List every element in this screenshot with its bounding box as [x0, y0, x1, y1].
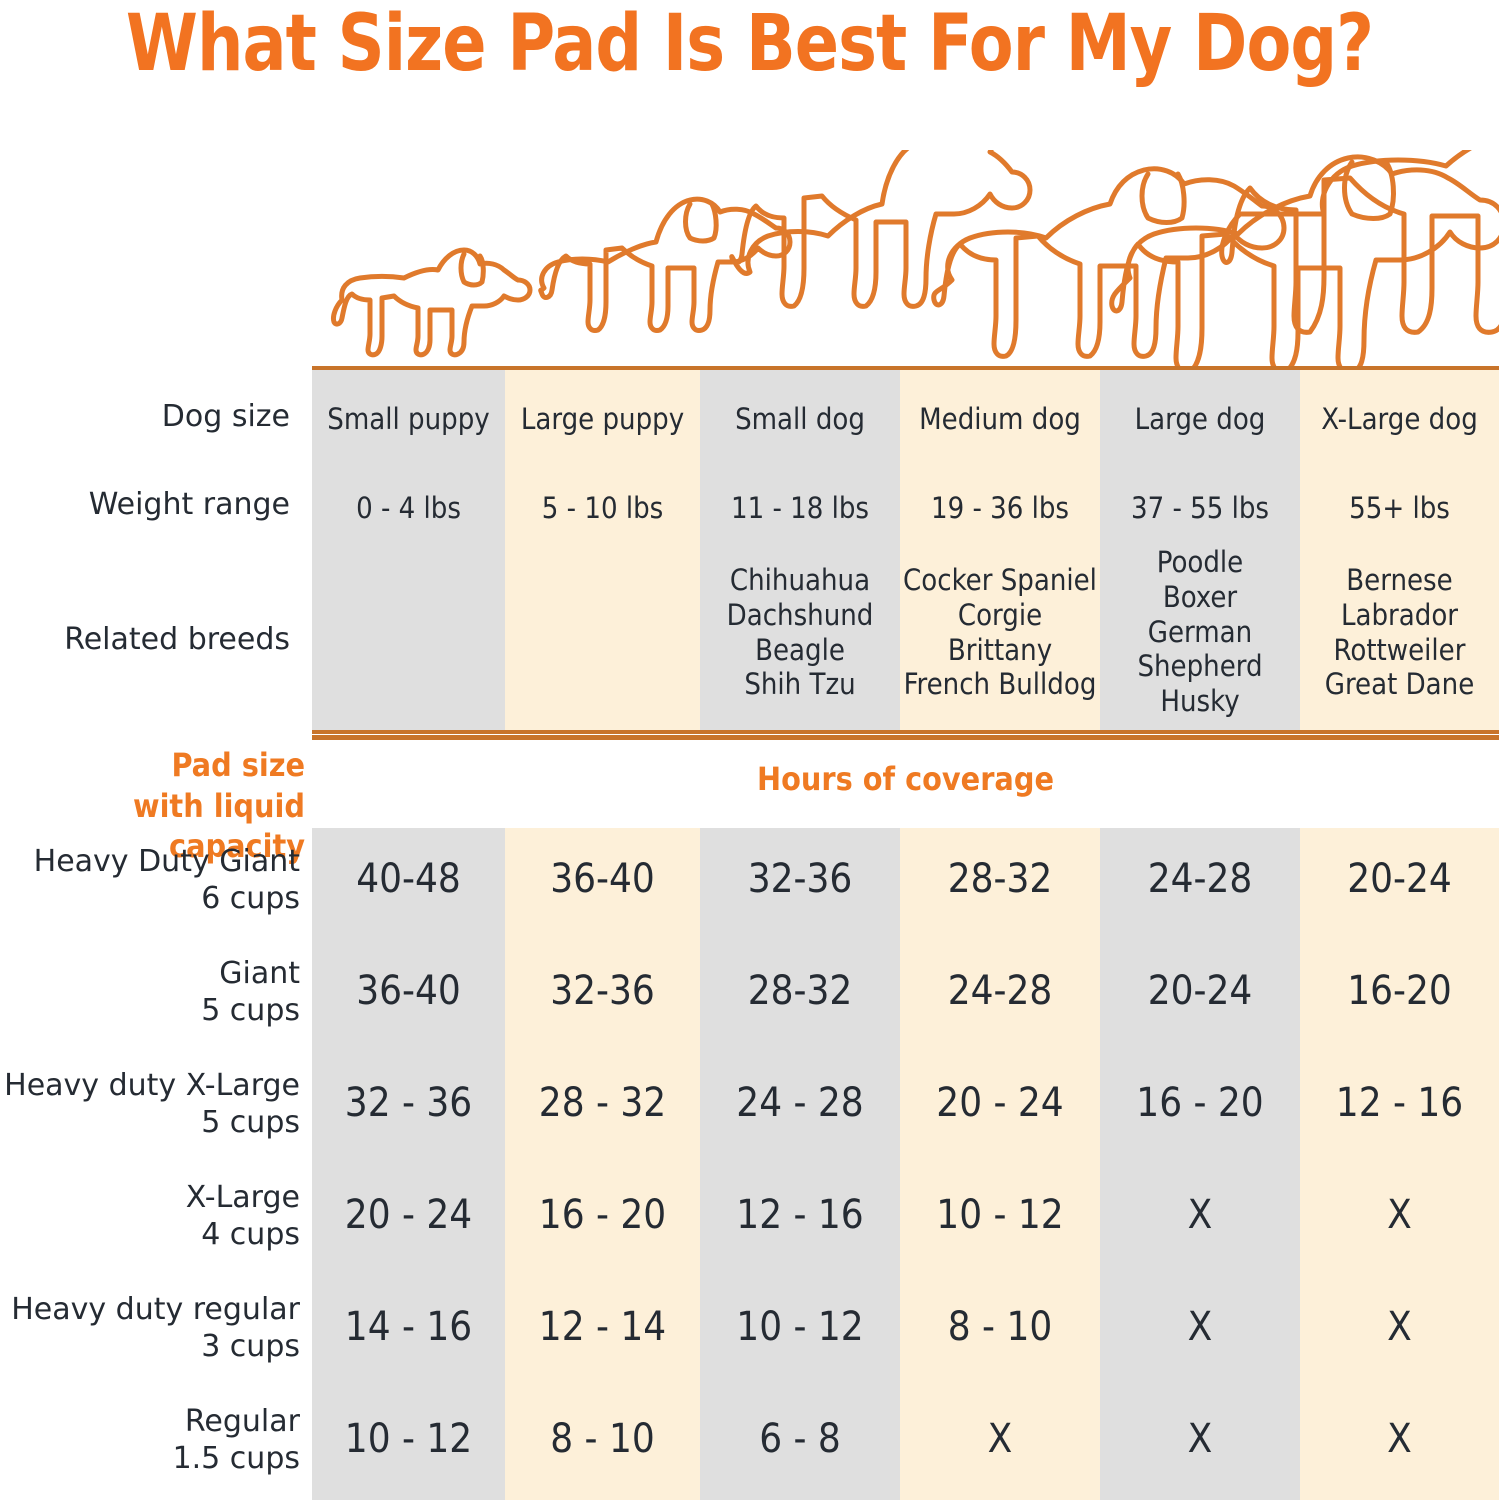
row-6-capacity: 1.5 cups	[173, 1441, 300, 1476]
cell-r2c4: 24-28	[900, 968, 1100, 1014]
cell-r6c1: 10 - 12	[312, 1416, 505, 1462]
cell-r4c1: 20 - 24	[312, 1192, 505, 1238]
cell-weight-2: 5 - 10 lbs	[505, 491, 700, 525]
cell-r5c6: X	[1300, 1304, 1499, 1350]
cell-r2c6: 16-20	[1300, 968, 1499, 1014]
cell-r2c1: 36-40	[312, 968, 505, 1014]
cell-r5c3: 10 - 12	[700, 1304, 900, 1350]
row-2-capacity: 5 cups	[201, 993, 300, 1028]
cell-r3c2: 28 - 32	[505, 1080, 700, 1126]
row-label-5: Heavy duty regular 3 cups	[0, 1292, 300, 1365]
cell-weight-6: 55+ lbs	[1300, 491, 1499, 525]
grid-col-bg-6	[1300, 828, 1499, 1500]
cell-r3c1: 32 - 36	[312, 1080, 505, 1126]
cell-r4c6: X	[1300, 1192, 1499, 1238]
cell-r1c2: 36-40	[505, 856, 700, 902]
cell-r6c6: X	[1300, 1416, 1499, 1462]
grid-col-bg-5	[1100, 828, 1300, 1500]
small-puppy-silhouette	[333, 250, 530, 355]
cell-r6c5: X	[1100, 1416, 1300, 1462]
cell-r2c2: 32-36	[505, 968, 700, 1014]
grid-col-bg-3	[700, 828, 900, 1500]
mid-divider-rule	[312, 735, 1499, 740]
bottom-divider-rule	[312, 730, 1499, 734]
cell-r4c2: 16 - 20	[505, 1192, 700, 1238]
grid-col-bg-4	[900, 828, 1100, 1500]
row-5-capacity: 3 cups	[201, 1329, 300, 1364]
top-divider-rule	[312, 366, 1499, 370]
cell-r5c4: 8 - 10	[900, 1304, 1100, 1350]
row-2-name: Giant	[219, 956, 300, 991]
cell-r4c4: 10 - 12	[900, 1192, 1100, 1238]
cell-dog-size-5: Large dog	[1100, 402, 1300, 436]
dog-silhouette-strip	[312, 150, 1499, 368]
row-6-name: Regular	[185, 1404, 300, 1439]
cell-r6c4: X	[900, 1416, 1100, 1462]
large-puppy-silhouette	[541, 199, 790, 330]
row-label-4: X-Large 4 cups	[0, 1180, 300, 1253]
cell-r2c5: 20-24	[1100, 968, 1300, 1014]
cell-dog-size-2: Large puppy	[505, 402, 700, 436]
cell-r4c3: 12 - 16	[700, 1192, 900, 1238]
cell-dog-size-6: X-Large dog	[1300, 402, 1499, 436]
cell-r1c1: 40-48	[312, 856, 505, 902]
cell-r4c5: X	[1100, 1192, 1300, 1238]
cell-weight-4: 19 - 36 lbs	[900, 491, 1100, 525]
page-title: What Size Pad Is Best For My Dog?	[52, 0, 1446, 94]
coverage-grid: Heavy Duty Giant 6 cups 40-48 36-40 32-3…	[0, 828, 1499, 1500]
cell-r5c2: 12 - 14	[505, 1304, 700, 1350]
cell-breeds-5: Poodle Boxer German Shepherd Husky	[1100, 545, 1300, 719]
hours-of-coverage-heading: Hours of coverage	[312, 760, 1499, 798]
cell-r5c1: 14 - 16	[312, 1304, 505, 1350]
grid-col-bg-1	[312, 828, 505, 1500]
grid-col-bg-2	[505, 828, 700, 1500]
cell-r6c2: 8 - 10	[505, 1416, 700, 1462]
cell-breeds-6: Bernese Labrador Rottweiler Great Dane	[1300, 563, 1499, 702]
row-label-6: Regular 1.5 cups	[0, 1404, 300, 1477]
label-related-breeds: Related breeds	[0, 623, 290, 656]
cell-r6c3: 6 - 8	[700, 1416, 900, 1462]
cell-weight-5: 37 - 55 lbs	[1100, 491, 1300, 525]
row-label-2: Giant 5 cups	[0, 956, 300, 1029]
row-label-1: Heavy Duty Giant 6 cups	[0, 844, 300, 917]
row-4-capacity: 4 cups	[201, 1217, 300, 1252]
cell-r2c3: 28-32	[700, 968, 900, 1014]
cell-r1c6: 20-24	[1300, 856, 1499, 902]
cell-dog-size-1: Small puppy	[312, 402, 505, 436]
cell-r1c4: 28-32	[900, 856, 1100, 902]
cell-r1c5: 24-28	[1100, 856, 1300, 902]
label-dog-size: Dog size	[0, 400, 290, 433]
row-label-3: Heavy duty X-Large 5 cups	[0, 1068, 300, 1141]
cell-r3c3: 24 - 28	[700, 1080, 900, 1126]
label-weight-range: Weight range	[0, 488, 290, 521]
cell-r1c3: 32-36	[700, 856, 900, 902]
large-dog-silhouette	[1112, 157, 1499, 370]
row-1-name: Heavy Duty Giant	[34, 844, 300, 879]
cell-breeds-3: Chihuahua Dachshund Beagle Shih Tzu	[700, 563, 900, 702]
row-3-capacity: 5 cups	[201, 1105, 300, 1140]
cell-weight-3: 11 - 18 lbs	[700, 491, 900, 525]
cell-r3c4: 20 - 24	[900, 1080, 1100, 1126]
row-4-name: X-Large	[186, 1180, 300, 1215]
cell-r5c5: X	[1100, 1304, 1300, 1350]
dog-info-table: Dog size Weight range Related breeds Sma…	[0, 368, 1499, 732]
row-3-name: Heavy duty X-Large	[4, 1068, 300, 1103]
cell-weight-1: 0 - 4 lbs	[312, 491, 505, 525]
row-5-name: Heavy duty regular	[11, 1292, 300, 1327]
cell-r3c6: 12 - 16	[1300, 1080, 1499, 1126]
cell-r3c5: 16 - 20	[1100, 1080, 1300, 1126]
cell-dog-size-4: Medium dog	[900, 402, 1100, 436]
cell-breeds-4: Cocker Spaniel Corgie Brittany French Bu…	[900, 563, 1100, 702]
cell-dog-size-3: Small dog	[700, 402, 900, 436]
row-1-capacity: 6 cups	[201, 881, 300, 916]
